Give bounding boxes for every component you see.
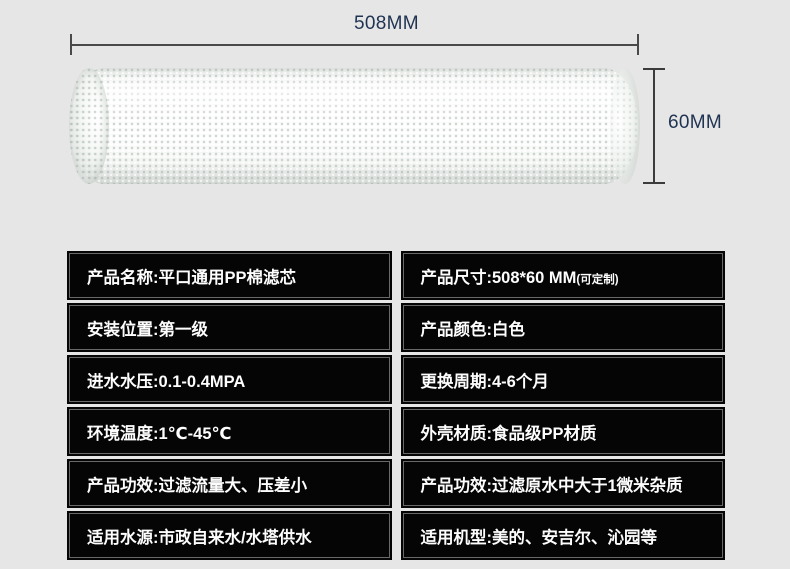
- spec-row-value: 过滤原水中大于1微米杂质: [492, 477, 683, 495]
- spec-row: 安装位置:第一级: [67, 303, 392, 352]
- spec-column-right: 产品尺寸:508*60 MM(可定制)产品颜色:白色更换周期:4-6个月外壳材质…: [401, 251, 726, 560]
- spec-row-value: 美的、安吉尔、沁园等: [492, 529, 657, 547]
- spec-row-text: 安装位置:第一级: [87, 316, 208, 340]
- spec-row-text: 适用水源:市政自来水/水塔供水: [87, 524, 312, 548]
- spec-row-label: 适用水源: [87, 529, 153, 547]
- diameter-dimension-cap-bottom: [643, 182, 665, 184]
- spec-row-text: 产品颜色:白色: [421, 316, 526, 340]
- spec-row-value: 平口通用PP棉滤芯: [159, 269, 297, 287]
- spec-row-label: 更换周期: [421, 373, 487, 391]
- spec-row-value: 508*60 MM: [492, 269, 576, 287]
- cartridge-highlight: [93, 84, 616, 119]
- spec-row-text: 更换周期:4-6个月: [421, 368, 549, 392]
- spec-row-value: 0.1-0.4MPA: [159, 373, 246, 391]
- product-photo-area: 508MM 60MM: [0, 0, 790, 240]
- spec-row-text: 适用机型:美的、安吉尔、沁园等: [421, 524, 658, 548]
- pp-cotton-filter-cartridge-image: [70, 68, 638, 184]
- spec-row-text: 外壳材质:食品级PP材质: [421, 420, 597, 444]
- spec-row-value: 1℃-45℃: [159, 425, 232, 443]
- spec-row: 产品功效:过滤流量大、压差小: [67, 459, 392, 508]
- spec-row-label: 进水水压: [87, 373, 153, 391]
- spec-column-left: 产品名称:平口通用PP棉滤芯安装位置:第一级进水水压:0.1-0.4MPA环境温…: [67, 251, 392, 560]
- spec-row-label: 产品名称: [87, 269, 153, 287]
- length-dimension-line: [70, 44, 638, 46]
- diameter-dimension-cap-top: [643, 68, 665, 70]
- cartridge-right-end-cap: [610, 68, 640, 184]
- specification-table: 产品名称:平口通用PP棉滤芯安装位置:第一级进水水压:0.1-0.4MPA环境温…: [67, 251, 725, 560]
- cartridge-body: [70, 68, 638, 184]
- spec-row-label: 外壳材质: [421, 425, 487, 443]
- spec-row-label: 产品功效: [421, 477, 487, 495]
- spec-row-value: 白色: [492, 321, 525, 339]
- spec-row: 产品名称:平口通用PP棉滤芯: [67, 251, 392, 300]
- spec-row-value: 食品级PP材质: [492, 425, 597, 443]
- spec-row-label: 产品尺寸: [421, 269, 487, 287]
- spec-row-text: 环境温度:1℃-45℃: [87, 420, 232, 444]
- spec-row-text: 产品名称:平口通用PP棉滤芯: [87, 264, 296, 288]
- spec-row-note: (可定制): [576, 274, 618, 286]
- spec-row: 产品颜色:白色: [401, 303, 726, 352]
- spec-row-text: 进水水压:0.1-0.4MPA: [87, 368, 245, 392]
- product-spec-page: 508MM 60MM 产品名称:平口通用PP棉滤芯安装位置:第一级进水水压:0.…: [0, 0, 790, 569]
- length-dimension-cap-right: [637, 34, 639, 55]
- spec-row: 产品功效:过滤原水中大于1微米杂质: [401, 459, 726, 508]
- length-dimension-cap-left: [70, 34, 72, 55]
- spec-row-text: 产品尺寸:508*60 MM(可定制): [421, 264, 619, 288]
- spec-row-value: 过滤流量大、压差小: [159, 477, 308, 495]
- spec-row: 外壳材质:食品级PP材质: [401, 407, 726, 456]
- cartridge-left-end-face: [69, 68, 109, 184]
- spec-row: 适用水源:市政自来水/水塔供水: [67, 511, 392, 560]
- spec-row: 更换周期:4-6个月: [401, 355, 726, 404]
- spec-row-text: 产品功效:过滤流量大、压差小: [87, 472, 307, 496]
- spec-row-label: 环境温度: [87, 425, 153, 443]
- spec-row-label: 安装位置: [87, 321, 153, 339]
- spec-row-label: 产品颜色: [421, 321, 487, 339]
- spec-row-label: 适用机型: [421, 529, 487, 547]
- spec-row-value: 第一级: [159, 321, 209, 339]
- length-dimension-label: 508MM: [354, 13, 419, 35]
- spec-row: 环境温度:1℃-45℃: [67, 407, 392, 456]
- diameter-dimension-line: [653, 68, 655, 184]
- spec-row: 进水水压:0.1-0.4MPA: [67, 355, 392, 404]
- cartridge-left-face-texture: [69, 68, 109, 184]
- spec-row: 适用机型:美的、安吉尔、沁园等: [401, 511, 726, 560]
- spec-row-text: 产品功效:过滤原水中大于1微米杂质: [421, 472, 683, 496]
- spec-row-value: 市政自来水/水塔供水: [159, 529, 312, 547]
- spec-row-value: 4-6个月: [492, 373, 549, 391]
- spec-row: 产品尺寸:508*60 MM(可定制): [401, 251, 726, 300]
- diameter-dimension-label: 60MM: [668, 112, 722, 134]
- spec-row-label: 产品功效: [87, 477, 153, 495]
